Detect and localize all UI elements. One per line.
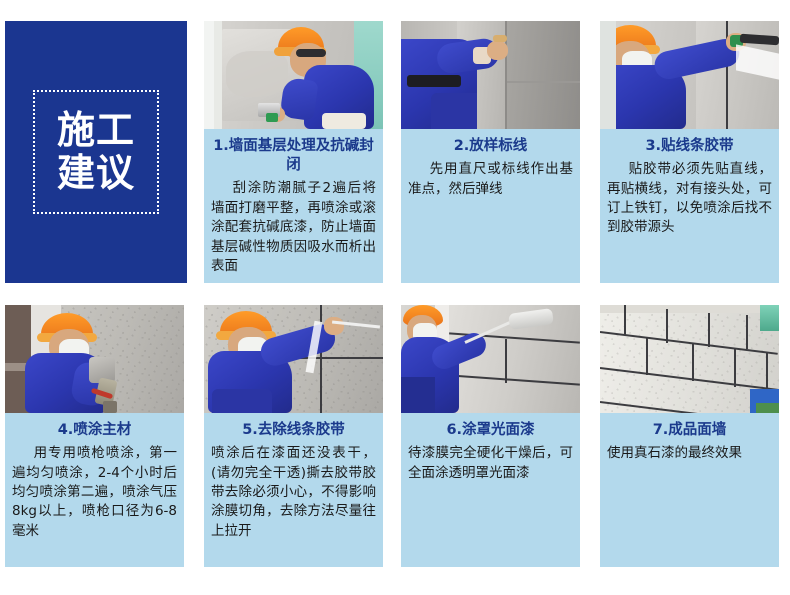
step-title-6: 6.涂罩光面漆 (407, 421, 574, 440)
step-card-7[interactable]: 7.成品面墙 使用真石漆的最终效果 (600, 305, 779, 567)
hero-title-line-2: 建议 (57, 152, 135, 195)
step-photo-2 (401, 21, 580, 129)
step-card-3[interactable]: 3.贴线条胶带 贴胶带必须先贴直线，再贴横线，对有接头处，可订上铁钉，以免喷涂后… (600, 21, 779, 283)
step-title-3: 3.贴线条胶带 (606, 137, 773, 156)
step-photo-1 (204, 21, 383, 129)
step-title-1: 1.墙面基层处理及抗碱封闭 (210, 137, 377, 175)
step-photo-4 (5, 305, 184, 413)
step-card-4[interactable]: 4.喷涂主材 用专用喷枪喷涂，第一遍均匀喷涂，2-4个小时后均匀喷涂第二遍，喷涂… (5, 305, 184, 567)
step-body-2: 2.放样标线 先用直尺或标线作出基准点，然后弹线 (401, 129, 580, 207)
step-title-4: 4.喷涂主材 (11, 421, 178, 440)
step-card-6[interactable]: 6.涂罩光面漆 待漆膜完全硬化干燥后，可全面涂透明罩光面漆 (401, 305, 580, 567)
step-title-7: 7.成品面墙 (606, 421, 773, 440)
hero-title-line-1: 施工 (57, 109, 135, 152)
step-text-6: 待漆膜完全硬化干燥后，可全面涂透明罩光面漆 (407, 444, 574, 483)
step-photo-5 (204, 305, 383, 413)
step-body-5: 5.去除线条胶带 喷涂后在漆面还没表干，(请勿完全干透)撕去胶带胶带去除必须小心… (204, 413, 383, 549)
hero-dotted-frame: 施工 建议 (33, 90, 159, 214)
step-card-5[interactable]: 5.去除线条胶带 喷涂后在漆面还没表干，(请勿完全干透)撕去胶带胶带去除必须小心… (204, 305, 383, 567)
step-title-2: 2.放样标线 (407, 137, 574, 156)
step-title-5: 5.去除线条胶带 (210, 421, 377, 440)
step-card-2[interactable]: 2.放样标线 先用直尺或标线作出基准点，然后弹线 (401, 21, 580, 283)
step-text-4: 用专用喷枪喷涂，第一遍均匀喷涂，2-4个小时后均匀喷涂第二遍，喷涂气压8kg以上… (11, 444, 178, 541)
hero-title-panel: 施工 建议 (5, 21, 187, 283)
step-photo-6 (401, 305, 580, 413)
step-body-3: 3.贴线条胶带 贴胶带必须先贴直线，再贴横线，对有接头处，可订上铁钉，以免喷涂后… (600, 129, 779, 246)
construction-steps-infographic: 施工 建议 1.墙面基层处理及抗碱封闭 刮涂防潮腻子2遍后将墙面打磨平整，再喷涂 (0, 0, 790, 595)
step-text-1: 刮涂防潮腻子2遍后将墙面打磨平整，再喷涂或滚涂配套抗碱底漆，防止墙面基层碱性物质… (210, 179, 377, 276)
step-text-5: 喷涂后在漆面还没表干，(请勿完全干透)撕去胶带胶带去除必须小心，不得影响涂膜切角… (210, 444, 377, 541)
step-body-6: 6.涂罩光面漆 待漆膜完全硬化干燥后，可全面涂透明罩光面漆 (401, 413, 580, 491)
step-photo-3 (600, 21, 779, 129)
step-body-4: 4.喷涂主材 用专用喷枪喷涂，第一遍均匀喷涂，2-4个小时后均匀喷涂第二遍，喷涂… (5, 413, 184, 549)
step-card-1[interactable]: 1.墙面基层处理及抗碱封闭 刮涂防潮腻子2遍后将墙面打磨平整，再喷涂或滚涂配套抗… (204, 21, 383, 283)
step-body-7: 7.成品面墙 使用真石漆的最终效果 (600, 413, 779, 472)
step-text-7: 使用真石漆的最终效果 (606, 444, 773, 463)
step-text-2: 先用直尺或标线作出基准点，然后弹线 (407, 160, 574, 199)
step-text-3: 贴胶带必须先贴直线，再贴横线，对有接头处，可订上铁钉，以免喷涂后找不到胶带源头 (606, 160, 773, 238)
step-photo-7 (600, 305, 779, 413)
step-body-1: 1.墙面基层处理及抗碱封闭 刮涂防潮腻子2遍后将墙面打磨平整，再喷涂或滚涂配套抗… (204, 129, 383, 283)
